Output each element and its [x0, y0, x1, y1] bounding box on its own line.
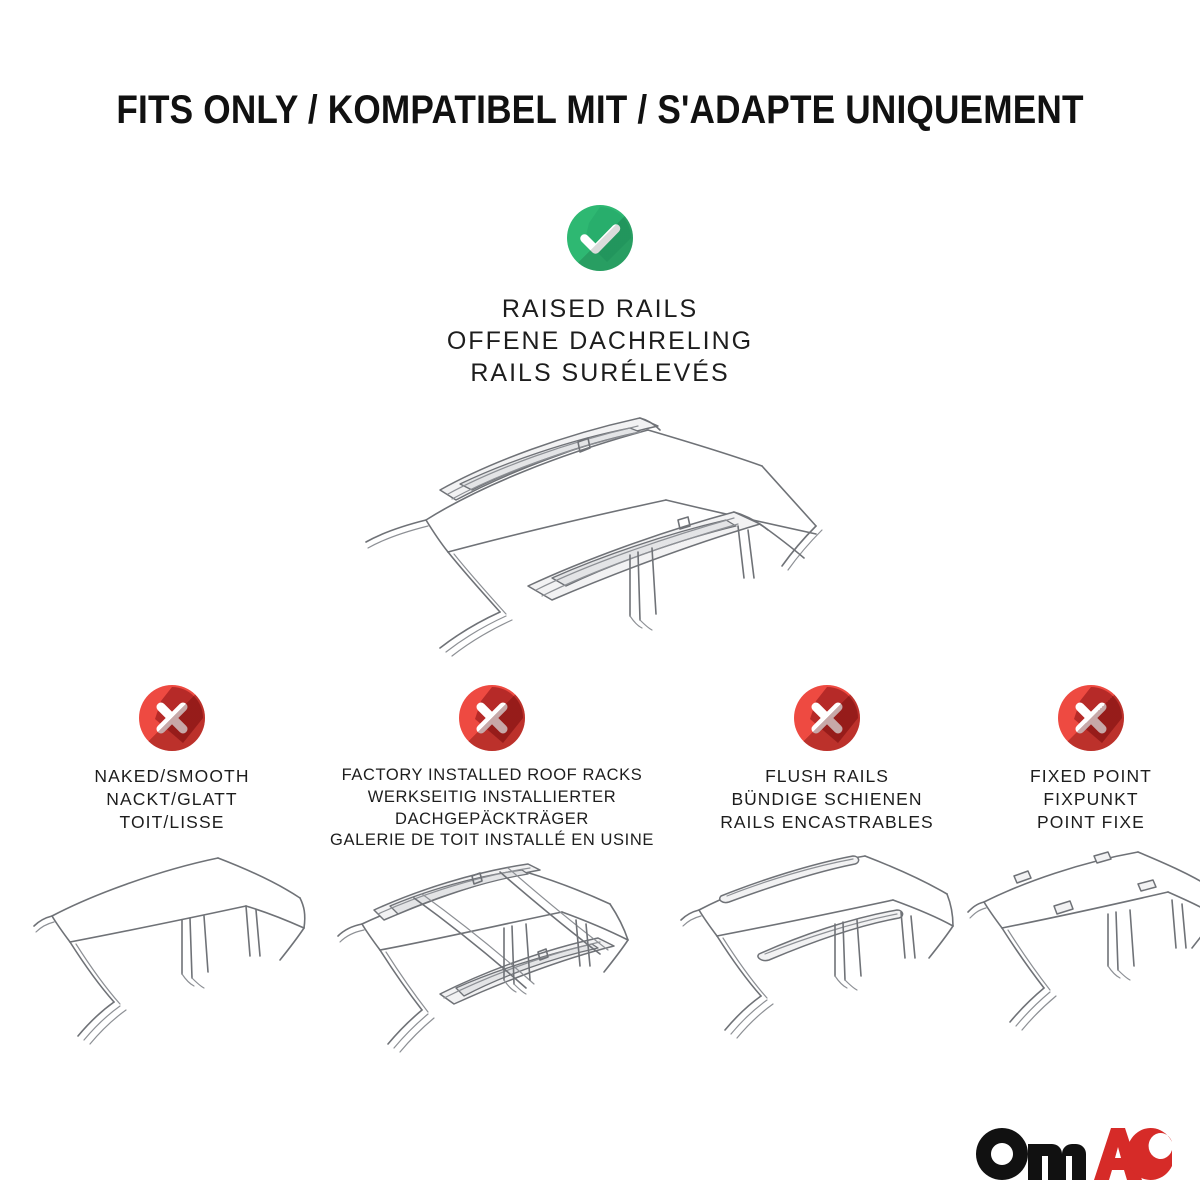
x-circle-icon — [1058, 685, 1124, 751]
label-line-en: FACTORY INSTALLED ROOF RACKS — [330, 765, 654, 787]
label-line-en: NAKED/SMOOTH — [94, 765, 249, 788]
incompatible-labels: FIXED POINT FIXPUNKT POINT FIXE — [1030, 765, 1152, 834]
page-title: FITS ONLY / KOMPATIBEL MIT / S'ADAPTE UN… — [72, 88, 1128, 133]
compatible-label-fr: RAILS SURÉLEVÉS — [447, 357, 753, 389]
label-line-fr: TOIT/LISSE — [94, 811, 249, 834]
car-roof-fixed-point-illustration — [966, 844, 1200, 1074]
label-line-en: FIXED POINT — [1030, 765, 1152, 788]
incompatible-column-flush-rails: FLUSH RAILS BÜNDIGE SCHIENEN RAILS ENCAS… — [672, 685, 982, 1074]
infographic-canvas: FITS ONLY / KOMPATIBEL MIT / S'ADAPTE UN… — [0, 0, 1200, 1200]
label-line-de-1: WERKSEITIG INSTALLIERTER — [330, 787, 654, 809]
car-roof-naked-smooth-illustration — [32, 844, 312, 1074]
label-line-fr: GALERIE DE TOIT INSTALLÉ EN USINE — [330, 830, 654, 852]
check-circle-icon — [567, 205, 633, 271]
logo-letter-m — [1028, 1144, 1086, 1180]
incompatible-column-fixed-point: FIXED POINT FIXPUNKT POINT FIXE — [982, 685, 1200, 1074]
label-line-de: NACKT/GLATT — [94, 788, 249, 811]
incompatible-labels: FACTORY INSTALLED ROOF RACKS WERKSEITIG … — [330, 765, 654, 852]
omac-logo — [974, 1126, 1174, 1182]
incompatible-column-factory-roof-racks: FACTORY INSTALLED ROOF RACKS WERKSEITIG … — [312, 685, 672, 1092]
logo-letter-o — [976, 1128, 1028, 1180]
compatible-label-en: RAISED RAILS — [447, 293, 753, 325]
compatible-labels: RAISED RAILS OFFENE DACHRELING RAILS SUR… — [447, 293, 753, 389]
incompatible-labels: FLUSH RAILS BÜNDIGE SCHIENEN RAILS ENCAS… — [720, 765, 933, 834]
label-line-en: FLUSH RAILS — [720, 765, 933, 788]
incompatible-section: NAKED/SMOOTH NACKT/GLATT TOIT/LISSE — [0, 685, 1200, 1105]
incompatible-labels: NAKED/SMOOTH NACKT/GLATT TOIT/LISSE — [94, 765, 249, 834]
label-line-fr: RAILS ENCASTRABLES — [720, 811, 933, 834]
label-line-fr: POINT FIXE — [1030, 811, 1152, 834]
car-roof-raised-rails-illustration — [330, 400, 890, 670]
x-circle-icon — [139, 685, 205, 751]
label-line-de: FIXPUNKT — [1030, 788, 1152, 811]
compatible-section: RAISED RAILS OFFENE DACHRELING RAILS SUR… — [0, 205, 1200, 389]
incompatible-column-naked-smooth: NAKED/SMOOTH NACKT/GLATT TOIT/LISSE — [32, 685, 312, 1074]
car-roof-factory-roof-racks-illustration — [322, 862, 662, 1092]
x-circle-icon — [459, 685, 525, 751]
car-roof-flush-rails-illustration — [677, 844, 977, 1074]
compatible-label-de: OFFENE DACHRELING — [447, 325, 753, 357]
label-line-de-2: DACHGEPÄCKTRÄGER — [330, 809, 654, 831]
x-circle-icon — [794, 685, 860, 751]
label-line-de: BÜNDIGE SCHIENEN — [720, 788, 933, 811]
